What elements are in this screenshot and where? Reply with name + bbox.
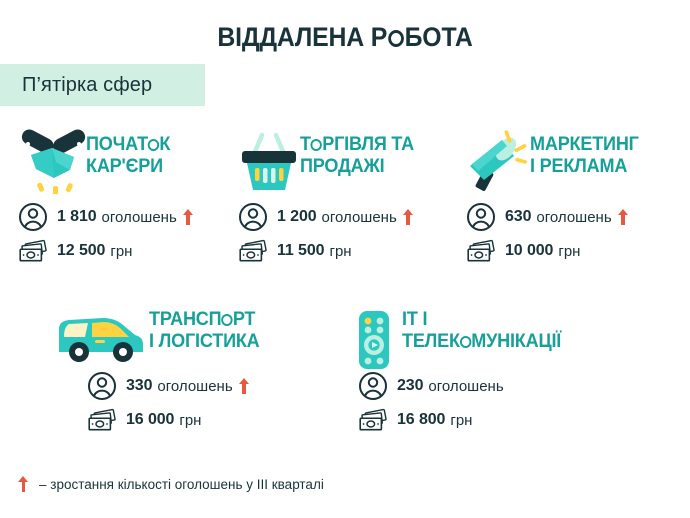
- handshake-icon: [18, 128, 92, 194]
- person-icon: [466, 202, 496, 232]
- it-salary-row: 16 800 грн: [358, 405, 645, 435]
- career-title-line2: КАР'ЄРИ: [86, 156, 163, 177]
- it-title-line1: ІТ І: [402, 309, 427, 330]
- category-transport-head: ТРАНСПРТІ ЛОГІСТИКА: [55, 305, 305, 367]
- page-title-part1: ВІДДАЛЕНА Р: [217, 22, 387, 52]
- career-salary-value: 12 500: [57, 242, 105, 260]
- person-icon: [87, 371, 117, 401]
- hollow-o-icon: [460, 336, 471, 348]
- career-title-b: К: [159, 134, 170, 155]
- transport-listings-value: 330: [126, 377, 152, 395]
- category-trade-title: ТРГІВЛЯ ТАПРОДАЖІ: [300, 134, 414, 178]
- growth-arrow-icon: [239, 378, 250, 394]
- growth-arrow-icon: [403, 209, 414, 225]
- trade-salary-value: 11 500: [277, 242, 324, 260]
- category-transport-title: ТРАНСПРТІ ЛОГІСТИКА: [149, 309, 260, 353]
- it-title-a: ТЕЛЕК: [402, 331, 460, 352]
- money-icon: [466, 236, 496, 266]
- career-salary-unit: грн: [110, 243, 132, 260]
- category-career: ПОЧАТККАР'ЄРИ 1 810 оголошень 12 500 г: [18, 126, 228, 266]
- trade-listings-row: 1 200 оголошень: [238, 202, 453, 232]
- category-trade: ТРГІВЛЯ ТАПРОДАЖІ 1 200 оголошень 11 500: [238, 126, 453, 266]
- marketing-salary-unit: грн: [558, 243, 580, 260]
- transport-salary-unit: грн: [179, 412, 201, 429]
- trade-title-line2: ПРОДАЖІ: [300, 156, 384, 177]
- marketing-title-line2: І РЕКЛАМА: [530, 156, 627, 177]
- money-icon: [87, 405, 117, 435]
- it-listings-value: 230: [397, 377, 423, 395]
- marketing-title-line1: МАРКЕТИНГ: [530, 134, 639, 155]
- money-icon: [18, 236, 48, 266]
- category-marketing-title: МАРКЕТИНГІ РЕКЛАМА: [530, 134, 639, 178]
- category-transport: ТРАНСПРТІ ЛОГІСТИКА 330 оголошень 16 000: [55, 305, 305, 435]
- transport-title-b: РТ: [233, 309, 255, 330]
- it-salary-unit: грн: [450, 412, 472, 429]
- marketing-salary-value: 10 000: [505, 242, 553, 260]
- growth-arrow-icon: [618, 209, 629, 225]
- subtitle-badge: П’ятірка сфер: [0, 64, 205, 106]
- trade-listings-unit: оголошень: [322, 209, 397, 226]
- career-listings-unit: оголошень: [102, 209, 177, 226]
- transport-salary-row: 16 000 грн: [87, 405, 305, 435]
- trade-salary-row: 11 500 грн: [238, 236, 453, 266]
- category-trade-head: ТРГІВЛЯ ТАПРОДАЖІ: [238, 126, 453, 198]
- megaphone-icon: [462, 128, 532, 194]
- hollow-o-icon: [221, 314, 232, 326]
- category-it-title: ІТ ІТЕЛЕКМУНІКАЦІЇ: [402, 309, 561, 353]
- category-it: ІТ ІТЕЛЕКМУНІКАЦІЇ 230 оголошень 16 800 …: [355, 305, 645, 435]
- it-salary-value: 16 800: [397, 411, 445, 429]
- growth-arrow-icon: [183, 209, 194, 225]
- hollow-o-icon: [311, 139, 322, 151]
- category-marketing-head: МАРКЕТИНГІ РЕКЛАМА: [466, 126, 681, 198]
- growth-arrow-icon: [18, 476, 29, 492]
- footnote: – зростання кількості оголошень у III кв…: [18, 476, 324, 492]
- marketing-listings-unit: оголошень: [536, 209, 611, 226]
- page-title-part2: БОТА: [405, 22, 473, 52]
- person-icon: [18, 202, 48, 232]
- money-icon: [238, 236, 268, 266]
- basket-icon: [238, 128, 302, 194]
- career-title-a: ПОЧАТ: [86, 134, 148, 155]
- infographic-canvas: ВІДДАЛЕНА РБОТА П’ятірка сфер ПОЧАТККАР'…: [0, 0, 690, 518]
- person-icon: [358, 371, 388, 401]
- trade-title-a: Т: [300, 134, 311, 155]
- category-career-head: ПОЧАТККАР'ЄРИ: [18, 126, 228, 198]
- it-listings-unit: оголошень: [428, 378, 503, 395]
- marketing-salary-row: 10 000 грн: [466, 236, 681, 266]
- transport-title-line2: І ЛОГІСТИКА: [149, 331, 260, 352]
- it-listings-row: 230 оголошень: [358, 371, 645, 401]
- category-career-title: ПОЧАТККАР'ЄРИ: [86, 134, 170, 178]
- remote-control-icon: [355, 309, 397, 371]
- footnote-text: – зростання кількості оголошень у III кв…: [39, 477, 324, 492]
- hollow-o-icon: [148, 139, 159, 151]
- person-icon: [238, 202, 268, 232]
- transport-listings-row: 330 оголошень: [87, 371, 305, 401]
- transport-listings-unit: оголошень: [157, 378, 232, 395]
- trade-salary-unit: грн: [329, 243, 351, 260]
- money-icon: [358, 405, 388, 435]
- subtitle-badge-label: П’ятірка сфер: [22, 74, 152, 97]
- transport-title-a: ТРАНСП: [149, 309, 221, 330]
- career-listings-row: 1 810 оголошень: [18, 202, 228, 232]
- career-listings-value: 1 810: [57, 208, 97, 226]
- page-title: ВІДДАЛЕНА РБОТА: [28, 22, 663, 53]
- hollow-o-icon: [388, 30, 404, 47]
- category-marketing: МАРКЕТИНГІ РЕКЛАМА 630 оголошень 10 000: [466, 126, 681, 266]
- trade-listings-value: 1 200: [277, 208, 317, 226]
- career-salary-row: 12 500 грн: [18, 236, 228, 266]
- marketing-listings-value: 630: [505, 208, 531, 226]
- category-it-head: ІТ ІТЕЛЕКМУНІКАЦІЇ: [355, 305, 645, 367]
- trade-title-b: РГІВЛЯ ТА: [322, 134, 414, 155]
- transport-salary-value: 16 000: [126, 411, 174, 429]
- van-icon: [55, 311, 147, 369]
- it-title-b: МУНІКАЦІЇ: [471, 331, 561, 352]
- marketing-listings-row: 630 оголошень: [466, 202, 681, 232]
